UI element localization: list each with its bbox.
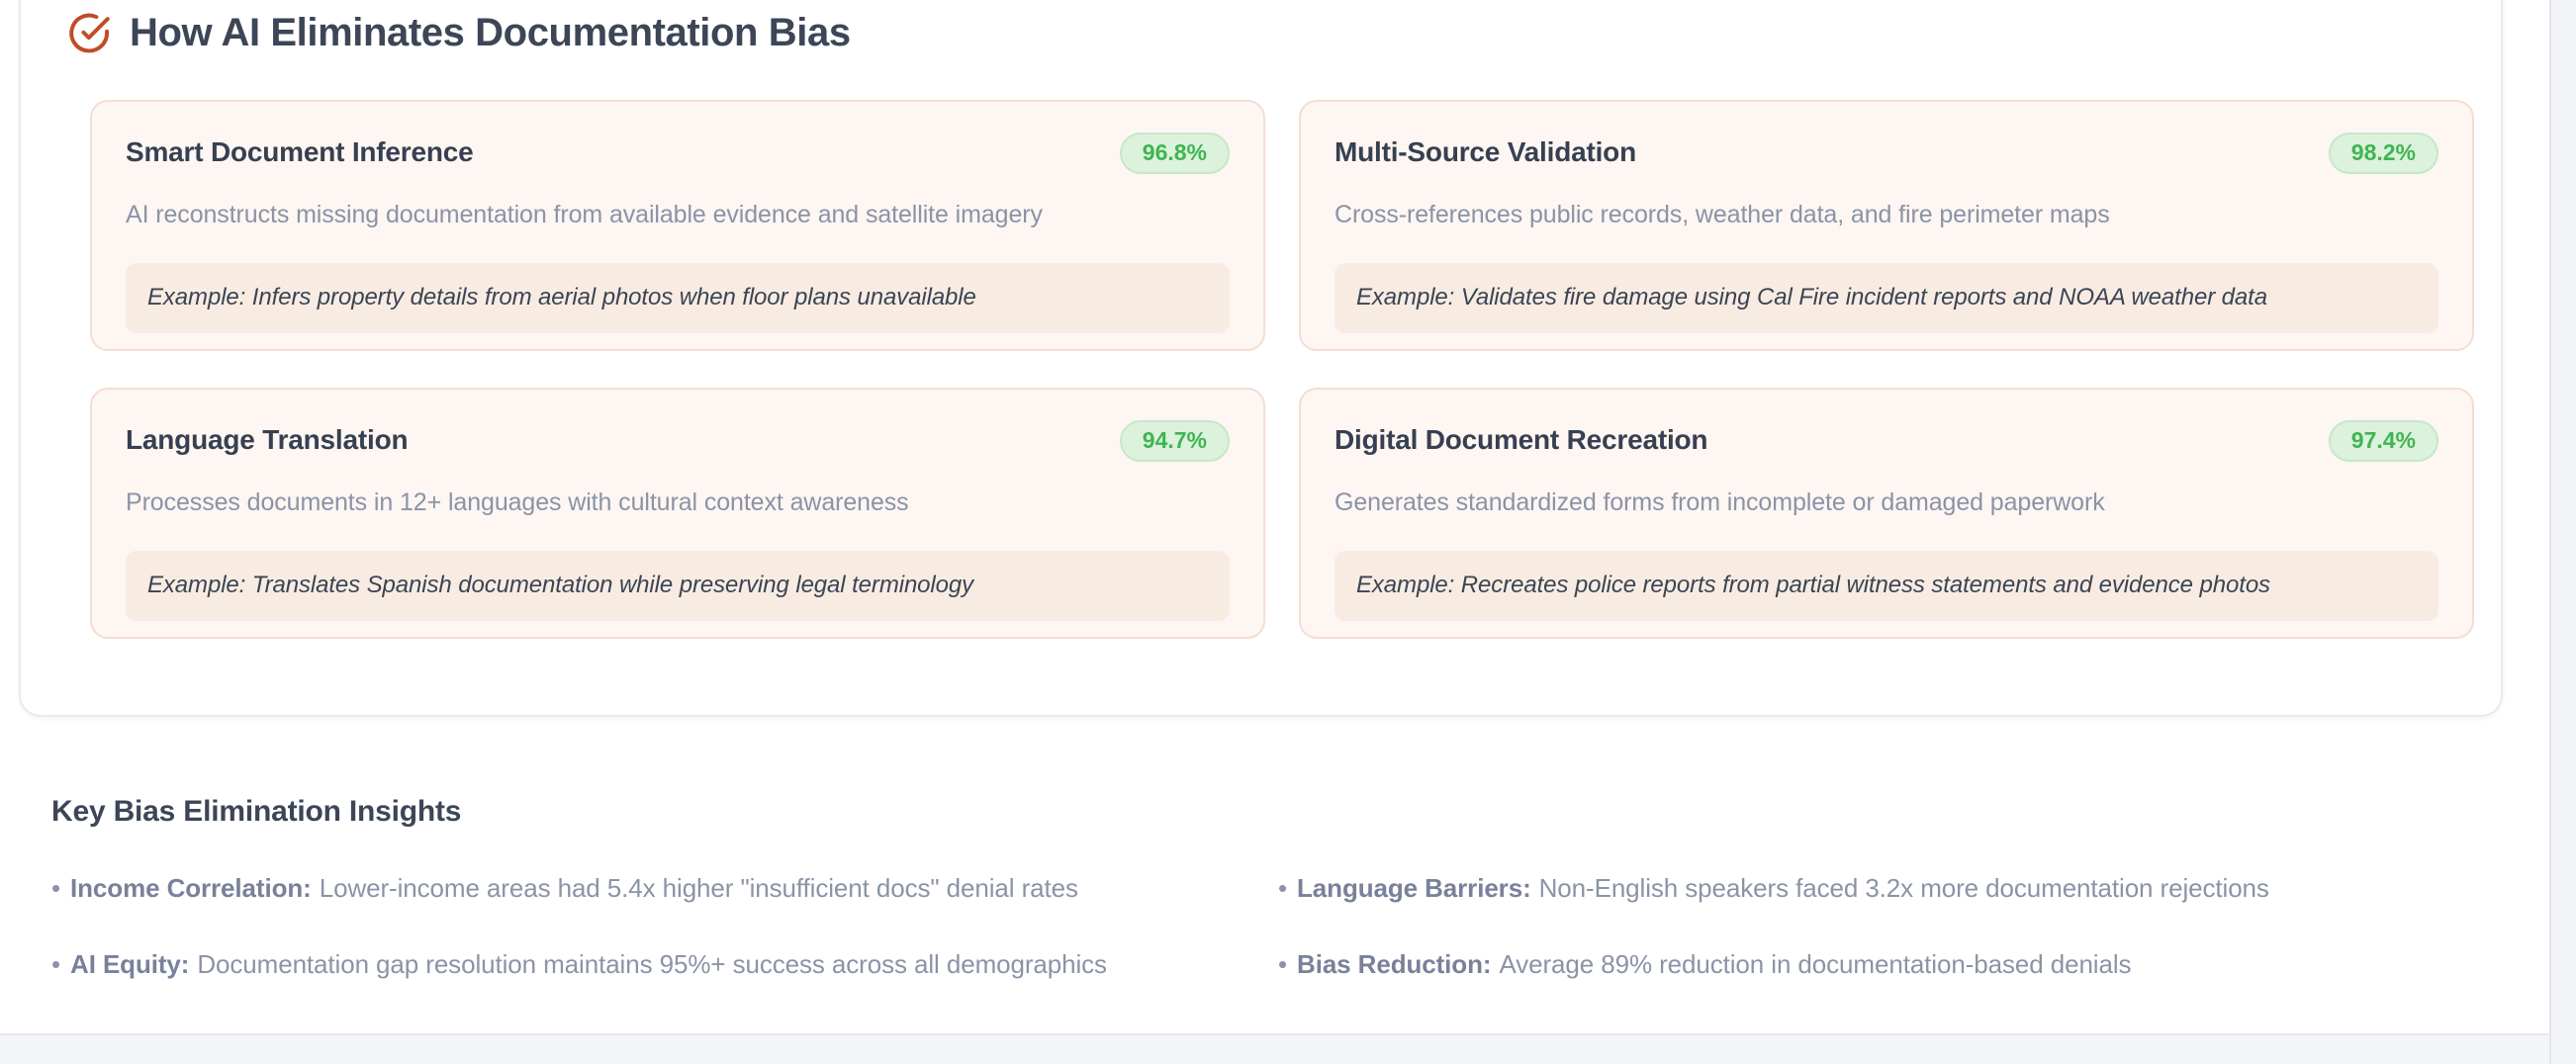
card-title: Multi-Source Validation xyxy=(1334,133,1636,169)
bias-card[interactable]: Multi-Source Validation 98.2% Cross-refe… xyxy=(1299,100,2474,351)
status-badge: 97.4% xyxy=(2329,420,2438,462)
card-example: Example: Recreates police reports from p… xyxy=(1334,551,2438,621)
list-item: • Language Barriers:Non-English speakers… xyxy=(1278,872,2445,905)
status-badge: 98.2% xyxy=(2329,133,2438,174)
card-example: Example: Infers property details from ae… xyxy=(126,263,1230,333)
card-header: Language Translation 94.7% xyxy=(126,420,1230,462)
status-badge: 96.8% xyxy=(1120,133,1230,174)
insight-text: Documentation gap resolution maintains 9… xyxy=(197,949,1107,979)
page-title: How AI Eliminates Documentation Bias xyxy=(130,13,851,52)
list-item: • AI Equity:Documentation gap resolution… xyxy=(51,948,1278,981)
insight-text: Lower-income areas had 5.4x higher "insu… xyxy=(320,873,1078,903)
key-insights-section: Key Bias Elimination Insights • Income C… xyxy=(51,797,2445,980)
card-description: AI reconstructs missing documentation fr… xyxy=(126,199,1230,232)
insight-label: Bias Reduction: xyxy=(1297,949,1491,979)
bias-card[interactable]: Digital Document Recreation 97.4% Genera… xyxy=(1299,388,2474,639)
card-example: Example: Validates fire damage using Cal… xyxy=(1334,263,2438,333)
documentation-bias-section: How AI Eliminates Documentation Bias Sma… xyxy=(19,0,2503,717)
card-header: Multi-Source Validation 98.2% xyxy=(1334,133,2438,174)
insight-label: Income Correlation: xyxy=(70,873,312,903)
insights-grid: • Income Correlation:Lower-income areas … xyxy=(51,872,2445,980)
insights-heading: Key Bias Elimination Insights xyxy=(51,797,2445,827)
page-scrollbar-rail[interactable] xyxy=(2549,0,2576,1064)
bullet-icon: • xyxy=(1278,951,1287,977)
list-item: • Income Correlation:Lower-income areas … xyxy=(51,872,1278,905)
bottom-strip xyxy=(0,1035,2549,1064)
insight-label: AI Equity: xyxy=(70,949,189,979)
bullet-icon: • xyxy=(1278,875,1287,901)
insight-text: Non-English speakers faced 3.2x more doc… xyxy=(1539,873,2269,903)
card-header: Smart Document Inference 96.8% xyxy=(126,133,1230,174)
bias-card-grid: Smart Document Inference 96.8% AI recons… xyxy=(90,100,2474,639)
insight-text: Average 89% reduction in documentation-b… xyxy=(1499,949,2131,979)
card-header: Digital Document Recreation 97.4% xyxy=(1334,420,2438,462)
card-description: Cross-references public records, weather… xyxy=(1334,199,2438,232)
page-root: How AI Eliminates Documentation Bias Sma… xyxy=(0,0,2576,1064)
card-title: Smart Document Inference xyxy=(126,133,474,169)
card-title: Language Translation xyxy=(126,420,408,457)
card-description: Processes documents in 12+ languages wit… xyxy=(126,487,1230,520)
card-description: Generates standardized forms from incomp… xyxy=(1334,487,2438,520)
card-title: Digital Document Recreation xyxy=(1334,420,1707,457)
insight-label: Language Barriers: xyxy=(1297,873,1531,903)
list-item: • Bias Reduction:Average 89% reduction i… xyxy=(1278,948,2445,981)
bullet-icon: • xyxy=(51,875,60,901)
bullet-icon: • xyxy=(51,951,60,977)
bias-card[interactable]: Smart Document Inference 96.8% AI recons… xyxy=(90,100,1265,351)
bias-card[interactable]: Language Translation 94.7% Processes doc… xyxy=(90,388,1265,639)
circle-check-icon xyxy=(68,12,111,54)
card-example: Example: Translates Spanish documentatio… xyxy=(126,551,1230,621)
section-header: How AI Eliminates Documentation Bias xyxy=(68,10,851,54)
status-badge: 94.7% xyxy=(1120,420,1230,462)
